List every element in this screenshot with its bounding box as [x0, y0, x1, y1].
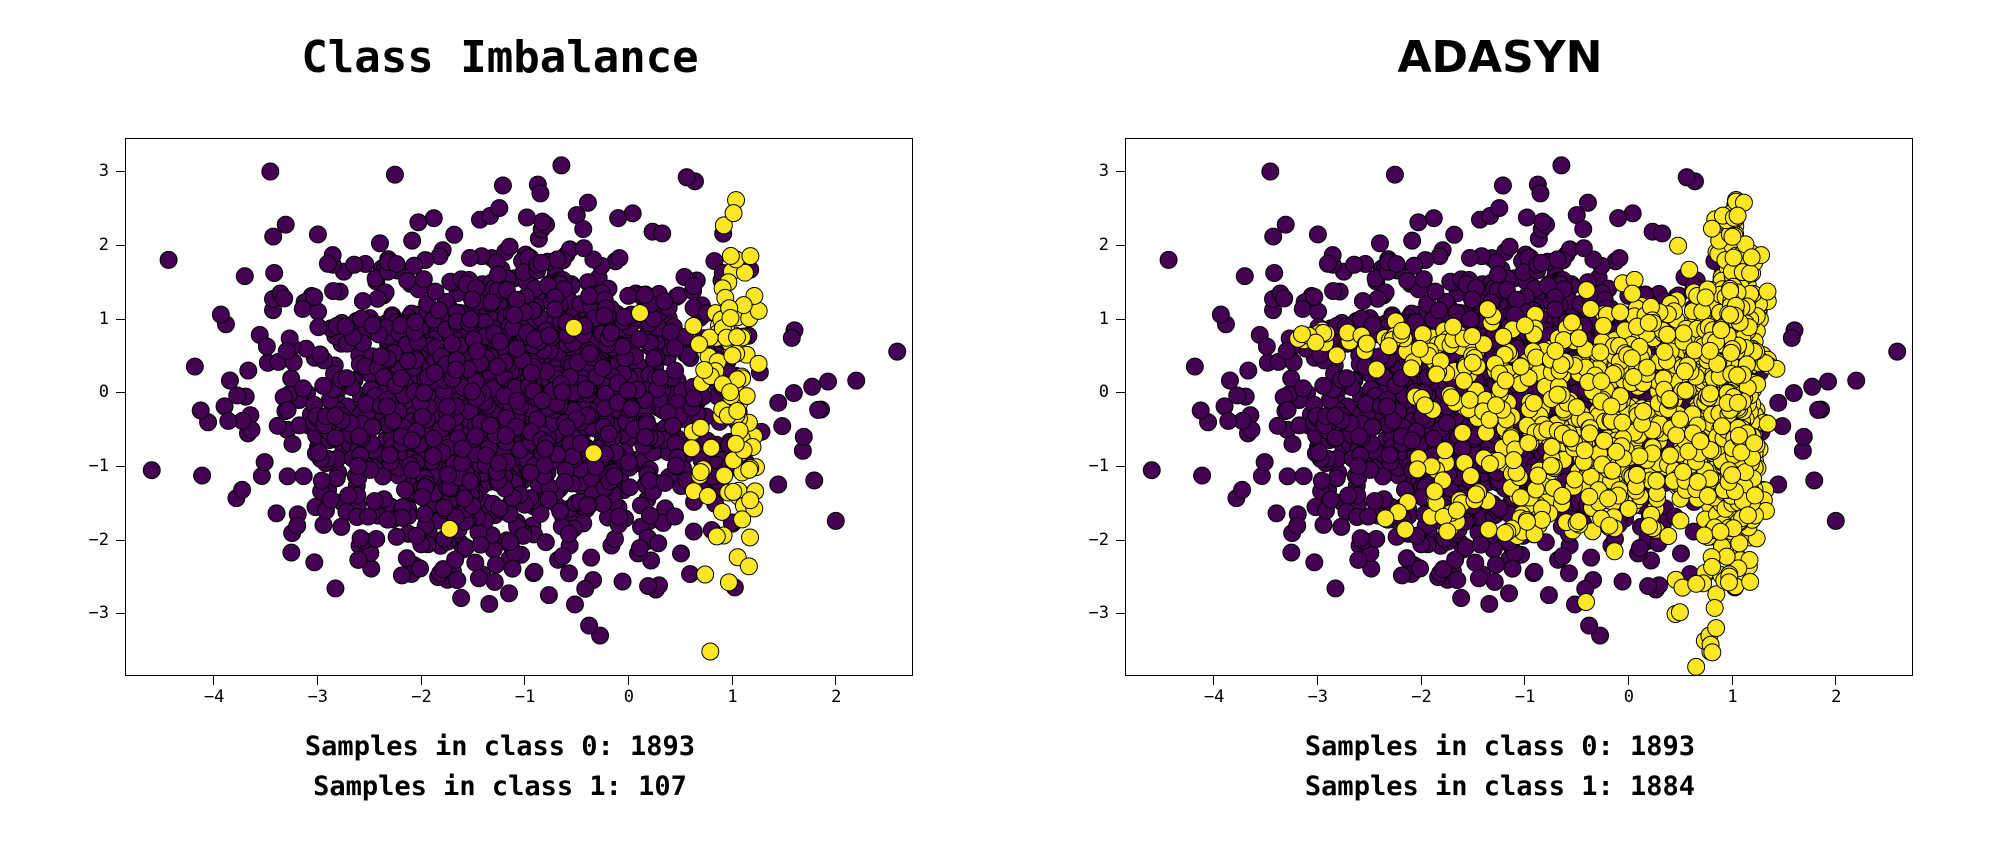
- x-tick-label: −4: [1174, 687, 1254, 707]
- y-tick-label: −2: [89, 530, 109, 550]
- y-tick-left-1: −2: [116, 540, 125, 541]
- x-tick-label: −2: [1382, 687, 1462, 707]
- x-tick-label: −1: [485, 687, 565, 707]
- y-tick-right-3: 0: [1116, 392, 1125, 393]
- y-tick-right-4: 1: [1116, 319, 1125, 320]
- x-tick-right-3: −1: [1524, 676, 1525, 685]
- x-tick-left-3: −1: [524, 676, 525, 685]
- y-tick-label: −1: [89, 456, 109, 476]
- page-title-right: ADASYN: [1000, 30, 2000, 86]
- y-tick-left-0: −3: [116, 613, 125, 614]
- x-tick-left-2: −2: [421, 676, 422, 685]
- x-tick-label: 2: [1796, 687, 1876, 707]
- x-tick-label: 0: [1589, 687, 1669, 707]
- panel-class-imbalance: Class Imbalance −3−2−10123 −4−3−2−1012 S…: [0, 0, 1000, 842]
- y-tick-label: 2: [1099, 235, 1109, 255]
- y-tick-label: −3: [89, 603, 109, 623]
- caption-class0-left: Samples in class 0: 1893: [0, 727, 1000, 767]
- x-tick-label: 1: [1693, 687, 1773, 707]
- x-tick-label: 1: [693, 687, 773, 707]
- x-tick-left-6: 2: [835, 676, 836, 685]
- x-tick-right-5: 1: [1732, 676, 1733, 685]
- caption-class0-right: Samples in class 0: 1893: [1000, 727, 2000, 767]
- x-tick-right-0: −4: [1213, 676, 1214, 685]
- y-tick-left-3: 0: [116, 392, 125, 393]
- y-tick-right-0: −3: [1116, 613, 1125, 614]
- y-tick-left-4: 1: [116, 319, 125, 320]
- y-tick-label: −1: [1089, 456, 1109, 476]
- scatter-plot-left: [126, 139, 912, 675]
- x-tick-label: 0: [589, 687, 669, 707]
- x-tick-label: 2: [796, 687, 876, 707]
- x-tick-right-1: −3: [1317, 676, 1318, 685]
- matplotlib-figure: Class Imbalance −3−2−10123 −4−3−2−1012 S…: [0, 0, 2000, 842]
- caption-class1-left: Samples in class 1: 107: [0, 767, 1000, 807]
- y-tick-label: −3: [1089, 603, 1109, 623]
- caption-class1-right: Samples in class 1: 1884: [1000, 767, 2000, 807]
- y-tick-right-1: −2: [1116, 540, 1125, 541]
- x-tick-right-6: 2: [1835, 676, 1836, 685]
- y-tick-right-2: −1: [1116, 466, 1125, 467]
- x-tick-left-5: 1: [732, 676, 733, 685]
- scatter-axes-left: [125, 138, 913, 676]
- y-tick-left-6: 3: [116, 171, 125, 172]
- x-tick-left-4: 0: [628, 676, 629, 685]
- y-tick-label: 1: [1099, 309, 1109, 329]
- y-tick-label: 3: [1099, 161, 1109, 181]
- x-tick-label: −4: [174, 687, 254, 707]
- y-tick-left-2: −1: [116, 466, 125, 467]
- y-tick-left-5: 2: [116, 245, 125, 246]
- x-tick-label: −1: [1485, 687, 1565, 707]
- x-tick-label: −3: [1278, 687, 1358, 707]
- y-tick-right-6: 3: [1116, 171, 1125, 172]
- panel-adasyn: ADASYN −3−2−10123 −4−3−2−1012 Samples in…: [1000, 0, 2000, 842]
- x-tick-label: −3: [278, 687, 358, 707]
- scatter-axes-right: [1125, 138, 1913, 676]
- x-tick-left-1: −3: [317, 676, 318, 685]
- y-tick-label: 1: [99, 309, 109, 329]
- y-tick-label: 3: [99, 161, 109, 181]
- page-title-left: Class Imbalance: [0, 30, 1000, 86]
- y-tick-right-5: 2: [1116, 245, 1125, 246]
- x-tick-label: −2: [382, 687, 462, 707]
- x-tick-right-4: 0: [1628, 676, 1629, 685]
- y-tick-label: 2: [99, 235, 109, 255]
- y-tick-label: −2: [1089, 530, 1109, 550]
- x-tick-left-0: −4: [213, 676, 214, 685]
- x-tick-right-2: −2: [1421, 676, 1422, 685]
- y-tick-label: 0: [99, 382, 109, 402]
- y-tick-label: 0: [1099, 382, 1109, 402]
- scatter-plot-right: [1126, 139, 1912, 675]
- series-class-0: [143, 157, 905, 644]
